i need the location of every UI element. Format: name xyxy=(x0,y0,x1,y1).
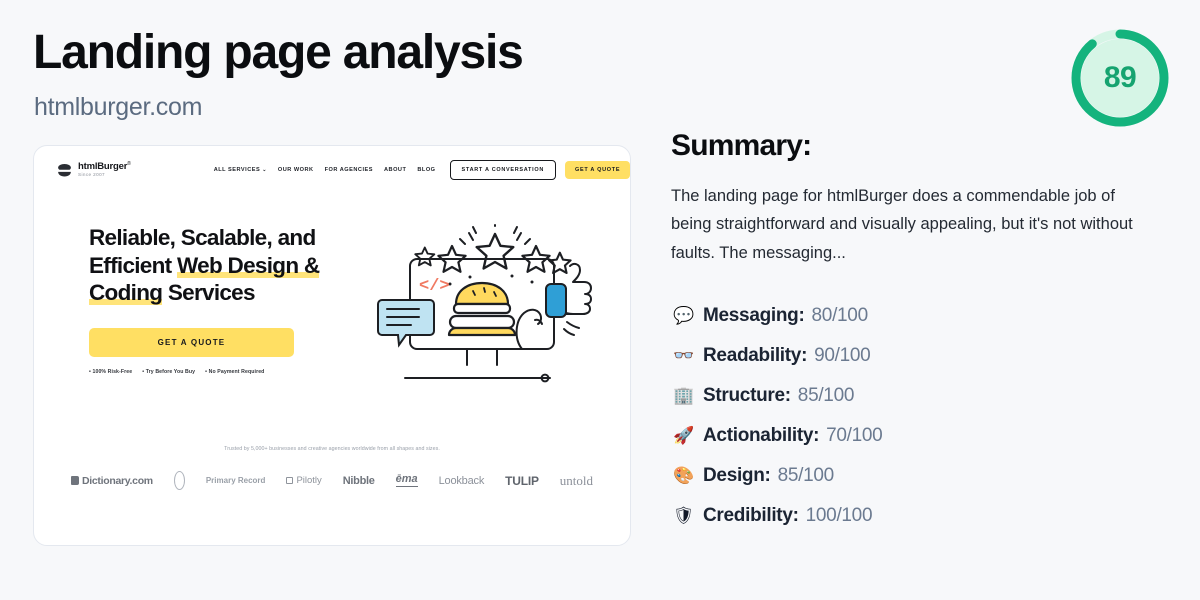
metric-label-messaging: Messaging: xyxy=(703,305,805,327)
speech-bubble-icon xyxy=(378,300,434,345)
metric-row-messaging: 💬 Messaging: 80/100 xyxy=(673,296,1173,336)
nav-link-about[interactable]: ABOUT xyxy=(384,167,406,173)
chevron-down-icon: ⌄ xyxy=(262,167,267,173)
artist-palette-icon: 🎨 xyxy=(673,468,703,485)
metric-label-credibility: Credibility: xyxy=(703,505,799,527)
brand-logo-nibble: Nibble xyxy=(343,475,375,487)
metrics-list: 💬 Messaging: 80/100 👓 Readability: 90/10… xyxy=(673,296,1173,536)
summary-text: The landing page for htmlBurger does a c… xyxy=(671,182,1149,267)
logo-name: htmlBurger® xyxy=(78,162,131,172)
brand-logo-penguin xyxy=(174,471,185,490)
score-value: 89 xyxy=(1070,28,1170,128)
page-subtitle-domain: htmlburger.com xyxy=(34,93,202,122)
burger-logo-icon xyxy=(56,162,73,179)
code-tag-icon: </> xyxy=(419,277,450,296)
brand-logo-pilotly: Pilotly xyxy=(286,475,321,486)
nav-link-for-agencies[interactable]: FOR AGENCIES xyxy=(325,167,373,173)
speech-balloon-icon: 💬 xyxy=(673,308,703,325)
hero-section: Reliable, Scalable, and Efficient Web De… xyxy=(89,224,329,375)
overall-score-ring: 89 xyxy=(1070,28,1170,128)
metric-row-actionability: 🚀 Actionability: 70/100 xyxy=(673,416,1173,456)
glasses-icon: 👓 xyxy=(673,348,703,365)
landing-page-screenshot-card[interactable]: htmlBurger® Since 2007 ALL SERVICES⌄ OUR… xyxy=(33,145,631,546)
penguin-oval-icon xyxy=(174,471,185,490)
nav-link-our-work[interactable]: OUR WORK xyxy=(278,167,314,173)
brand-logo-dictionary: Dictionary.com xyxy=(71,475,153,487)
metric-row-readability: 👓 Readability: 90/100 xyxy=(673,336,1173,376)
shield-icon: 🛡 xyxy=(673,508,703,525)
hero-bullet-try-before-buy: Try Before You Buy xyxy=(142,369,195,375)
metric-row-credibility: 🛡 Credibility: 100/100 xyxy=(673,496,1173,536)
hero-get-a-quote-button[interactable]: GET A QUOTE xyxy=(89,328,294,357)
nav-get-a-quote-button[interactable]: GET A QUOTE xyxy=(565,161,630,179)
start-a-conversation-button[interactable]: START A CONVERSATION xyxy=(450,160,556,180)
metric-label-readability: Readability: xyxy=(703,345,807,367)
nav-link-all-services[interactable]: ALL SERVICES⌄ xyxy=(214,167,267,173)
page-title: Landing page analysis xyxy=(33,28,523,78)
dictionary-mark-icon xyxy=(71,476,79,485)
hero-illustration: </> xyxy=(372,224,622,404)
brand-logo-tulip: TULIP xyxy=(505,474,539,488)
hero-bullet-risk-free: 100% Risk-Free xyxy=(89,369,132,375)
nav-links: ALL SERVICES⌄ OUR WORK FOR AGENCIES ABOU… xyxy=(214,167,436,173)
client-logo-row: Dictionary.com Primary Record Pilotly Ni… xyxy=(34,471,630,490)
brand-logo-lookback: Lookback xyxy=(439,475,485,487)
metric-score-readability: 90/100 xyxy=(814,345,870,367)
metric-score-design: 85/100 xyxy=(778,465,834,487)
office-building-icon: 🏢 xyxy=(673,388,703,405)
burger-icon xyxy=(449,283,515,335)
metric-label-structure: Structure: xyxy=(703,385,791,407)
hero-bullet-no-payment: No Payment Required xyxy=(205,369,264,375)
brand-logo-primary-record: Primary Record xyxy=(206,477,266,485)
logo-tagline: Since 2007 xyxy=(78,173,131,178)
nav-link-blog[interactable]: BLOG xyxy=(417,167,435,173)
metric-row-structure: 🏢 Structure: 85/100 xyxy=(673,376,1173,416)
metric-label-actionability: Actionability: xyxy=(703,425,819,447)
phone-icon xyxy=(546,284,566,317)
brand-logo-untold: untold xyxy=(560,473,593,489)
metric-score-structure: 85/100 xyxy=(798,385,854,407)
metric-label-design: Design: xyxy=(703,465,771,487)
hero-headline: Reliable, Scalable, and Efficient Web De… xyxy=(89,224,329,307)
screenshot-navbar: htmlBurger® Since 2007 ALL SERVICES⌄ OUR… xyxy=(34,146,630,194)
rocket-icon: 🚀 xyxy=(673,428,703,445)
summary-heading: Summary: xyxy=(671,129,811,163)
metric-score-messaging: 80/100 xyxy=(812,305,868,327)
trust-line: Trusted by 5,000+ businesses and creativ… xyxy=(34,446,630,452)
metric-score-actionability: 70/100 xyxy=(826,425,882,447)
brand-logo-ema: ēma xyxy=(396,474,418,487)
registered-mark: ® xyxy=(127,161,130,167)
pilotly-mark-icon xyxy=(286,477,293,484)
metric-score-credibility: 100/100 xyxy=(806,505,873,527)
hero-bullets: 100% Risk-Free Try Before You Buy No Pay… xyxy=(89,369,329,375)
metric-row-design: 🎨 Design: 85/100 xyxy=(673,456,1173,496)
site-logo[interactable]: htmlBurger® Since 2007 xyxy=(56,162,131,179)
